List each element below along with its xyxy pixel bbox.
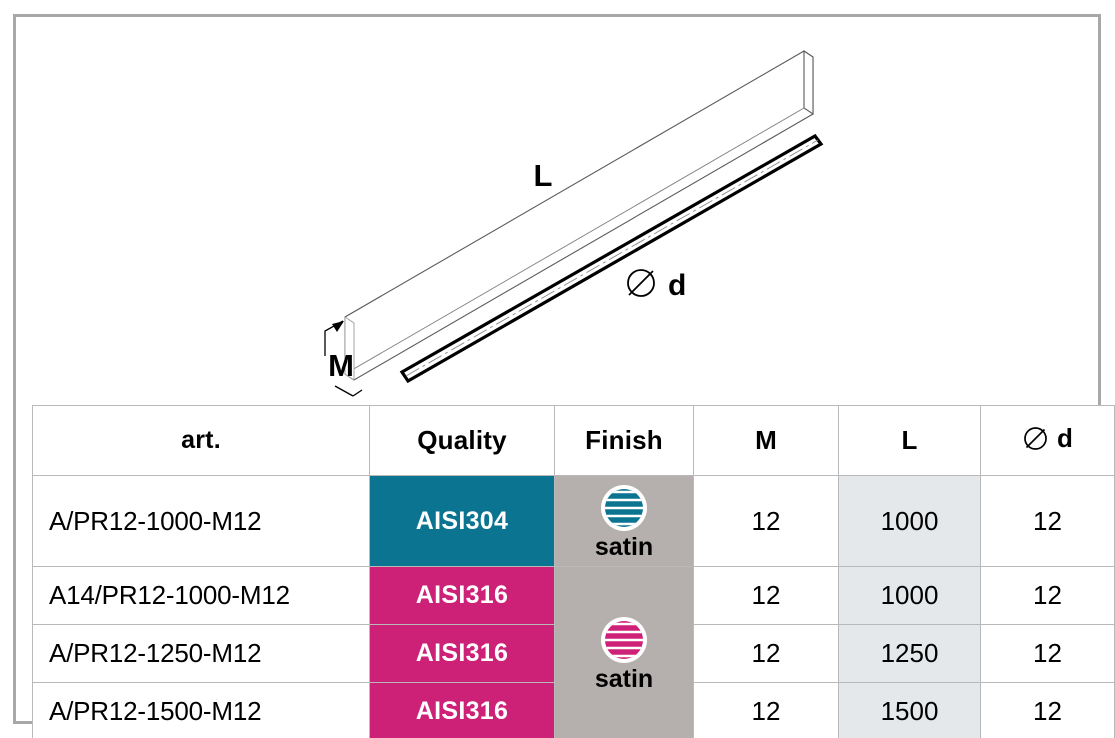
- cell-finish-group-316: satin: [555, 567, 694, 738]
- drawing-panel: L M d: [32, 34, 1114, 405]
- cell-m: 12: [694, 683, 839, 738]
- cell-d: 12: [981, 683, 1115, 738]
- cell-l: 1000: [839, 567, 981, 625]
- cell-d: 12: [981, 476, 1115, 567]
- cell-quality: AISI316: [370, 567, 555, 625]
- table-row[interactable]: A14/PR12-1000-M12 AISI316: [33, 567, 1115, 625]
- rod-lower-edge: [345, 108, 804, 374]
- column-header-art: art.: [33, 406, 370, 476]
- cell-l: 1500: [839, 683, 981, 738]
- cell-art: A/PR12-1500-M12: [33, 683, 370, 738]
- cell-l: 1250: [839, 625, 981, 683]
- cell-art: A/PR12-1000-M12: [33, 476, 370, 567]
- satin-stripes-icon: [599, 483, 649, 533]
- m-leader-lower-tick: [353, 390, 362, 396]
- cell-quality: AISI316: [370, 625, 555, 683]
- column-header-l: L: [839, 406, 981, 476]
- cell-art: A14/PR12-1000-M12: [33, 567, 370, 625]
- cell-quality: AISI316: [370, 683, 555, 738]
- cell-m: 12: [694, 567, 839, 625]
- cell-quality: AISI304: [370, 476, 555, 567]
- finish-label: satin: [595, 535, 653, 560]
- m-leader-lower: [335, 386, 353, 396]
- label-M: M: [328, 348, 354, 383]
- cell-d: 12: [981, 625, 1115, 683]
- label-diameter-group: d: [628, 269, 686, 302]
- diameter-slash-icon: [629, 271, 653, 295]
- cell-m: 12: [694, 476, 839, 567]
- rod-end-face-top: [804, 51, 813, 114]
- label-L: L: [534, 158, 553, 193]
- cell-m: 12: [694, 625, 839, 683]
- product-spec-sheet: L M d art. Quality Finish: [0, 0, 1115, 738]
- satin-stripes-icon: [599, 615, 649, 665]
- cell-art: A/PR12-1250-M12: [33, 625, 370, 683]
- table-row[interactable]: A/PR12-1000-M12 AISI304: [33, 476, 1115, 567]
- diameter-symbol-icon: [1022, 425, 1049, 452]
- table-body: A/PR12-1000-M12 AISI304: [33, 476, 1115, 738]
- cell-l: 1000: [839, 476, 981, 567]
- m-arrowhead: [332, 321, 344, 332]
- column-header-m: M: [694, 406, 839, 476]
- rod-drawing-svg: L M d: [32, 34, 1114, 405]
- table-header: art. Quality Finish M L d: [33, 406, 1115, 476]
- rod-body-outline: [345, 51, 813, 380]
- label-d: d: [668, 269, 686, 302]
- specification-table: art. Quality Finish M L d: [32, 405, 1115, 738]
- outer-frame: L M d art. Quality Finish: [13, 14, 1101, 724]
- finish-label: satin: [595, 667, 653, 692]
- diameter-letter: d: [1057, 423, 1073, 454]
- column-header-finish: Finish: [555, 406, 694, 476]
- cell-finish-group-304: satin: [555, 476, 694, 567]
- column-header-diameter: d: [981, 406, 1115, 476]
- cell-d: 12: [981, 567, 1115, 625]
- column-header-quality: Quality: [370, 406, 555, 476]
- header-row: art. Quality Finish M L d: [33, 406, 1115, 476]
